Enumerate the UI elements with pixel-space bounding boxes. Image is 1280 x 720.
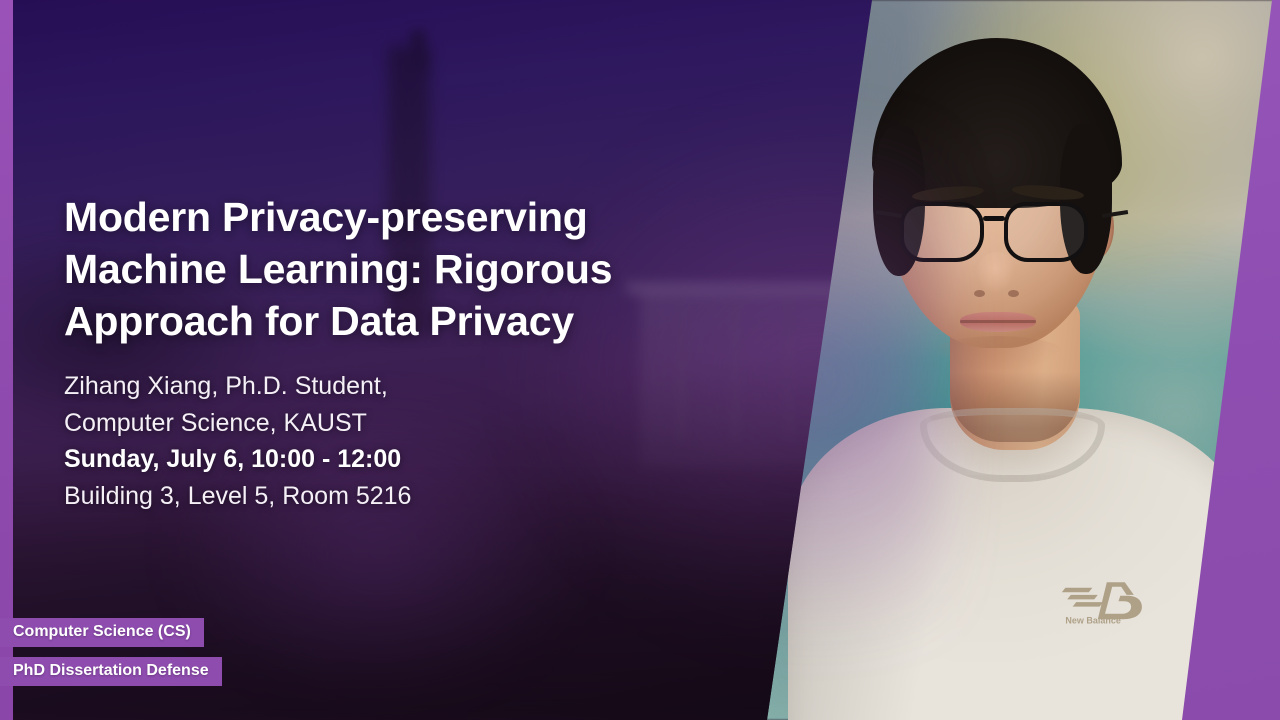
speaker-name: Zihang Xiang, Ph.D. Student,	[64, 368, 684, 405]
event-announcement-slide: New Balance Modern Privacy-preserving Ma…	[0, 0, 1280, 720]
status-badge-event-type: PhD Dissertation Defense	[0, 657, 222, 686]
glasses-lens-right	[1004, 202, 1088, 262]
status-badge-department: Computer Science (CS)	[0, 618, 204, 647]
speaker-affiliation: Computer Science, KAUST	[64, 405, 684, 442]
nostril-right	[1008, 290, 1019, 297]
new-balance-logo-icon: New Balance	[1060, 578, 1168, 628]
mouth-line	[960, 320, 1036, 323]
svg-text:New Balance: New Balance	[1065, 616, 1121, 626]
glasses-bridge	[983, 216, 1005, 221]
event-details: Zihang Xiang, Ph.D. Student, Computer Sc…	[64, 368, 684, 514]
page-title: Modern Privacy-preserving Machine Learni…	[64, 191, 724, 347]
left-accent-stripe	[0, 0, 13, 720]
glasses-temple-right	[1102, 210, 1128, 218]
chin-shadow	[932, 336, 1064, 370]
nostril-left	[974, 290, 985, 297]
event-datetime: Sunday, July 6, 10:00 - 12:00	[64, 441, 684, 478]
event-location: Building 3, Level 5, Room 5216	[64, 478, 684, 515]
